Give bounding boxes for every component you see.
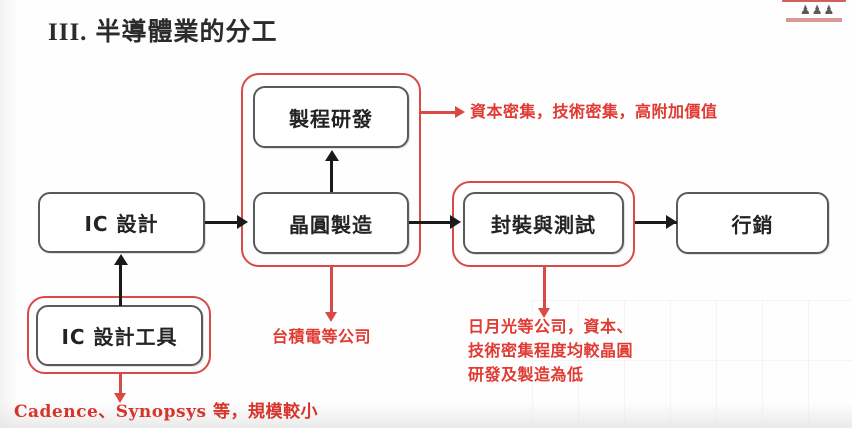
- box-wafer-fab-label: 晶圓製造: [289, 209, 373, 238]
- page-title: III.半導體業的分工: [48, 12, 277, 48]
- box-packaging-test-label: 封裝與測試: [491, 209, 596, 238]
- box-wafer-fab[interactable]: 晶圓製造: [253, 192, 409, 254]
- connector-wafer-to-packaging: [409, 221, 455, 224]
- box-marketing-label: 行銷: [732, 209, 774, 238]
- slide-canvas: ♟♟♟ III.半導體業的分工 製程研發 IC 設計 晶圓製造 封裝與測試 行銷…: [0, 0, 852, 428]
- note-capital-intensive: 資本密集，技術密集，高附加價值: [470, 100, 718, 124]
- logo-figure-icon: ♟♟♟: [800, 3, 835, 17]
- box-ic-design-label: IC 設計: [84, 208, 158, 237]
- connector-packaging-to-marketing-arrowhead: [666, 215, 677, 229]
- connector-wafer-to-process-rnd: [330, 158, 333, 192]
- connector-tools-to-ic-design: [119, 262, 122, 306]
- red-connector-packaging-to-ase-note: [543, 267, 546, 311]
- box-ic-design-tools[interactable]: IC 設計工具: [36, 305, 203, 366]
- logo-band: [782, 0, 846, 2]
- box-packaging-test[interactable]: 封裝與測試: [463, 192, 624, 254]
- note-tsmc: 台積電等公司: [272, 325, 371, 349]
- page-title-text: 半導體業的分工: [95, 17, 277, 46]
- connector-wafer-to-packaging-arrowhead: [450, 215, 461, 229]
- box-ic-design-tools-label: IC 設計工具: [61, 321, 177, 350]
- note-ase: 日月光等公司，資本、 技術密集程度均較晶圓 研發及製造為低: [468, 315, 633, 387]
- connector-wafer-to-process-rnd-arrowhead: [325, 150, 339, 161]
- box-process-rnd[interactable]: 製程研發: [253, 86, 409, 148]
- connector-tools-to-ic-design-arrowhead: [114, 254, 128, 265]
- background-left-fade: [0, 0, 18, 428]
- red-connector-wafer-to-tsmc-note: [330, 267, 333, 315]
- channel-logo-watermark: ♟♟♟: [782, 0, 846, 28]
- box-marketing[interactable]: 行銷: [676, 192, 829, 254]
- page-title-number: III.: [48, 19, 87, 46]
- box-ic-design[interactable]: IC 設計: [38, 192, 205, 253]
- red-connector-wafer-to-capital-note: [421, 111, 459, 114]
- connector-ic-design-to-wafer-arrowhead: [237, 215, 248, 229]
- red-connector-wafer-to-tsmc-note-arrowhead: [325, 312, 337, 322]
- logo-subtitle-bar: [786, 18, 842, 22]
- red-connector-wafer-to-capital-note-arrowhead: [455, 106, 465, 118]
- note-eda-vendors: Cadence、Synopsys 等，規模較小: [14, 400, 318, 424]
- box-process-rnd-label: 製程研發: [289, 103, 373, 132]
